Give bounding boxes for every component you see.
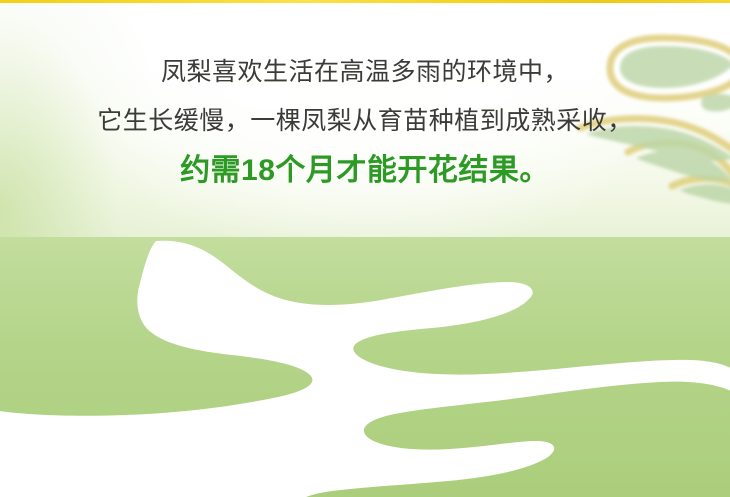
pineapple-info-banner: 凤梨喜欢生活在高温多雨的环境中， 它生长缓慢，一棵凤梨从育苗种植到成熟采收， 约… <box>0 0 730 497</box>
headline-line-3-highlight: 约需18个月才能开花结果。 <box>0 156 730 186</box>
flowing-ribbon-motif-icon <box>0 237 730 497</box>
headline-text-block: 凤梨喜欢生活在高温多雨的环境中， 它生长缓慢，一棵凤梨从育苗种植到成熟采收， 约… <box>0 60 730 186</box>
headline-line-1: 凤梨喜欢生活在高温多雨的环境中， <box>0 60 730 85</box>
headline-line-2: 它生长缓慢，一棵凤梨从育苗种植到成熟采收， <box>0 109 730 134</box>
